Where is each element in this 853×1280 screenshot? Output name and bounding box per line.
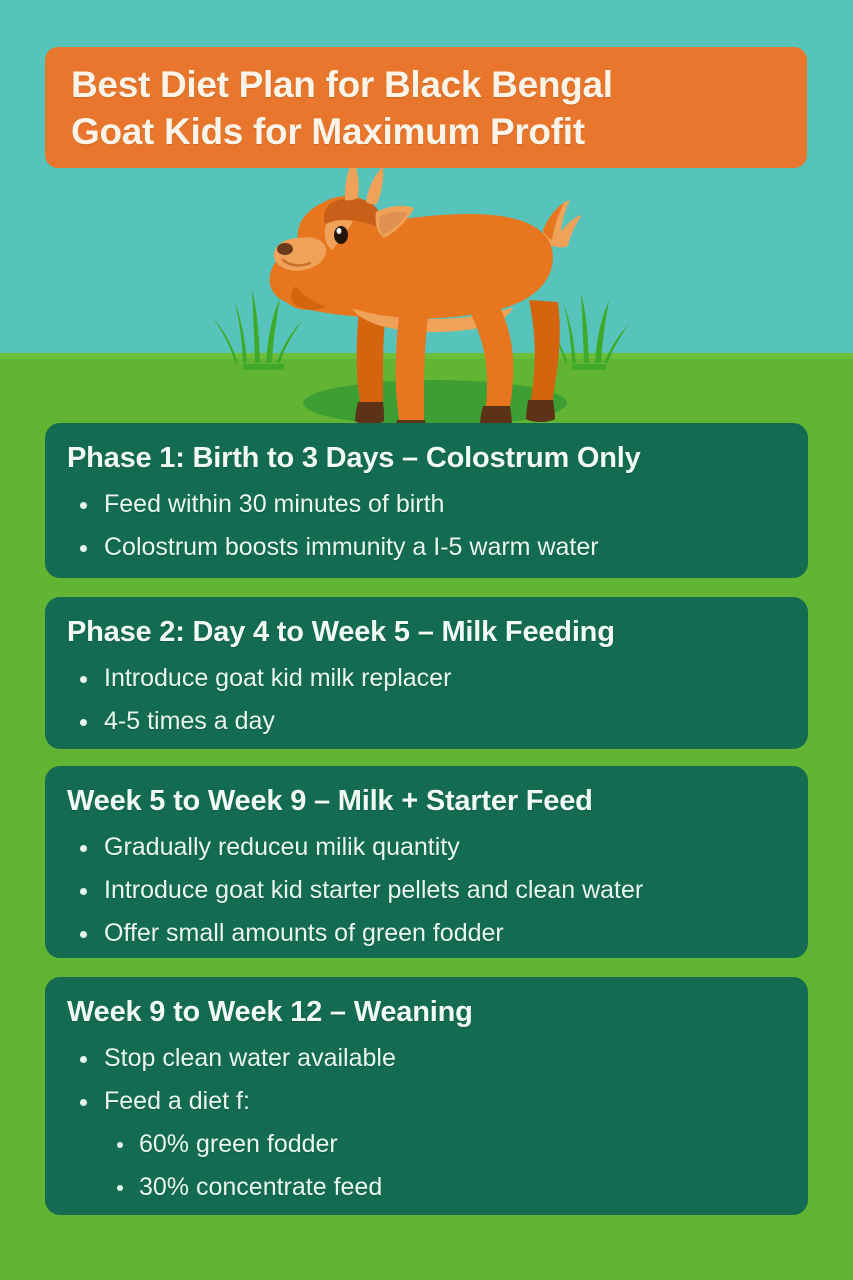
- bullet-dot-icon: [80, 545, 87, 552]
- bullet-dot-icon: [80, 1056, 87, 1063]
- bullet-dot-icon: [80, 845, 87, 852]
- list-item-label: Offer small amounts of green fodder: [104, 919, 504, 947]
- phase-card-4-title: Week 9 to Week 12 – Weaning: [67, 993, 786, 1031]
- list-item-label: Feed a diet f:: [104, 1087, 250, 1115]
- bullet-dot-icon: [80, 931, 87, 938]
- list-item: 30% concentrate feed: [67, 1166, 786, 1209]
- phase-card-1-title: Phase 1: Birth to 3 Days – Colostrum Onl…: [67, 439, 786, 477]
- list-item-label: Introduce goat kid milk replacer: [104, 664, 451, 692]
- phase-card-4: Week 9 to Week 12 – Weaning Stop clean w…: [45, 977, 808, 1215]
- phase-card-3-title: Week 5 to Week 9 – Milk + Starter Feed: [67, 782, 786, 820]
- list-item: Introduce goat kid milk replacer: [67, 657, 786, 700]
- title-line-1: Best Diet Plan for Black Bengal: [71, 61, 781, 108]
- list-item: Gradually reduceu milik quantity: [67, 826, 786, 869]
- bullet-dot-icon: [80, 719, 87, 726]
- list-item-label: 60% green fodder: [139, 1130, 338, 1158]
- list-item-label: 4-5 times a day: [104, 707, 275, 735]
- title-line-2: Goat Kids for Maximum Profit: [71, 108, 781, 155]
- phase-card-4-subbullets: 60% green fodder 30% concentrate feed: [67, 1123, 786, 1209]
- phase-card-1-bullets: Feed within 30 minutes of birth Colostru…: [67, 483, 786, 569]
- phase-card-3: Week 5 to Week 9 – Milk + Starter Feed G…: [45, 766, 808, 958]
- bullet-dot-icon: [117, 1185, 123, 1191]
- list-item-label: Feed within 30 minutes of birth: [104, 490, 444, 518]
- list-item: Offer small amounts of green fodder: [67, 912, 786, 955]
- title-banner: Best Diet Plan for Black Bengal Goat Kid…: [45, 47, 807, 168]
- list-item-label: 30% concentrate feed: [139, 1173, 382, 1201]
- phase-card-2-bullets: Introduce goat kid milk replacer 4-5 tim…: [67, 657, 786, 743]
- list-item: Feed within 30 minutes of birth: [67, 483, 786, 526]
- infographic-poster: Best Diet Plan for Black Bengal Goat Kid…: [0, 0, 853, 1280]
- grass-horizon-band: [0, 353, 853, 359]
- phase-card-2-title: Phase 2: Day 4 to Week 5 – Milk Feeding: [67, 613, 786, 651]
- phase-card-4-bullets: Stop clean water available Feed a diet f…: [67, 1037, 786, 1123]
- phase-card-2: Phase 2: Day 4 to Week 5 – Milk Feeding …: [45, 597, 808, 749]
- phase-card-1: Phase 1: Birth to 3 Days – Colostrum Onl…: [45, 423, 808, 578]
- list-item-label: Gradually reduceu milik quantity: [104, 833, 460, 861]
- bullet-dot-icon: [80, 1099, 87, 1106]
- list-item-label: Colostrum boosts immunity a I-5 warm wat…: [104, 533, 599, 561]
- bullet-dot-icon: [117, 1142, 123, 1148]
- bullet-dot-icon: [80, 676, 87, 683]
- list-item: Stop clean water available: [67, 1037, 786, 1080]
- list-item-label: Stop clean water available: [104, 1044, 396, 1072]
- list-item: Introduce goat kid starter pellets and c…: [67, 869, 786, 912]
- list-item: 4-5 times a day: [67, 700, 786, 743]
- list-item: Feed a diet f:: [67, 1080, 786, 1123]
- bullet-dot-icon: [80, 888, 87, 895]
- list-item: Colostrum boosts immunity a I-5 warm wat…: [67, 526, 786, 569]
- bullet-dot-icon: [80, 502, 87, 509]
- list-item-label: Introduce goat kid starter pellets and c…: [104, 876, 643, 904]
- phase-card-3-bullets: Gradually reduceu milik quantity Introdu…: [67, 826, 786, 955]
- list-item: 60% green fodder: [67, 1123, 786, 1166]
